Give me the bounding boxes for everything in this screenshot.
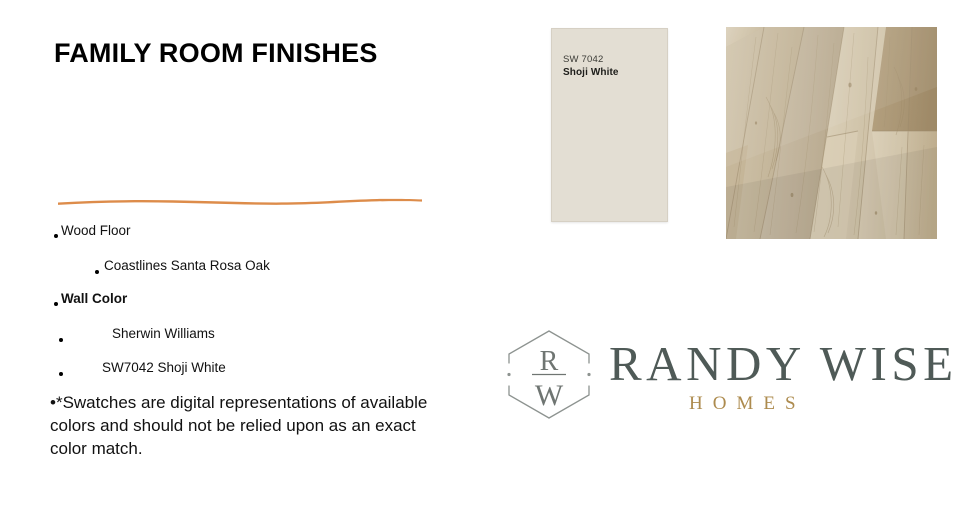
- wood-floor-photo: [726, 27, 937, 239]
- accent-stroke-icon: [55, 188, 425, 214]
- logo-tagline: HOMES: [689, 393, 806, 415]
- list-item-label: Wall Color: [61, 291, 127, 307]
- list-item: SW7042 Shoji White: [0, 356, 470, 390]
- bullet-dot-icon: [54, 234, 58, 238]
- page-title: FAMILY ROOM FINISHES: [54, 38, 378, 69]
- paint-swatch-card: SW 7042 Shoji White: [551, 28, 668, 222]
- list-item-label: SW7042 Shoji White: [102, 360, 226, 376]
- list-item: Wood Floor: [0, 220, 470, 254]
- accent-stroke-decoration: [55, 188, 425, 214]
- list-item-label: Coastlines Santa Rosa Oak: [104, 258, 270, 274]
- list-item: Sherwin Williams: [0, 322, 470, 356]
- bullet-dot-icon: [95, 270, 99, 274]
- paint-swatch-code: SW 7042: [563, 54, 603, 65]
- bullet-dot-icon: [59, 338, 63, 342]
- list-item-label: Wood Floor: [61, 223, 131, 239]
- monogram-letter-r: R: [540, 346, 559, 377]
- bullet-dot-icon: [54, 302, 58, 306]
- brand-logo: R W RANDY WISE HOMES: [503, 327, 943, 427]
- logo-wordmark: RANDY WISE: [609, 335, 958, 392]
- list-item-label: Sherwin Williams: [112, 326, 215, 342]
- monogram-letter-w: W: [535, 379, 564, 412]
- list-item: Coastlines Santa Rosa Oak: [0, 254, 470, 288]
- hexagon-monogram-icon: R W: [503, 327, 595, 422]
- wood-floor-image: [726, 27, 937, 239]
- finishes-bullet-list: Wood Floor Coastlines Santa Rosa Oak Wal…: [0, 220, 470, 390]
- disclaimer-text: •*Swatches are digital representations o…: [50, 391, 450, 460]
- paint-swatch-name: Shoji White: [563, 67, 619, 78]
- bullet-dot-icon: [59, 372, 63, 376]
- list-item: Wall Color: [0, 288, 470, 322]
